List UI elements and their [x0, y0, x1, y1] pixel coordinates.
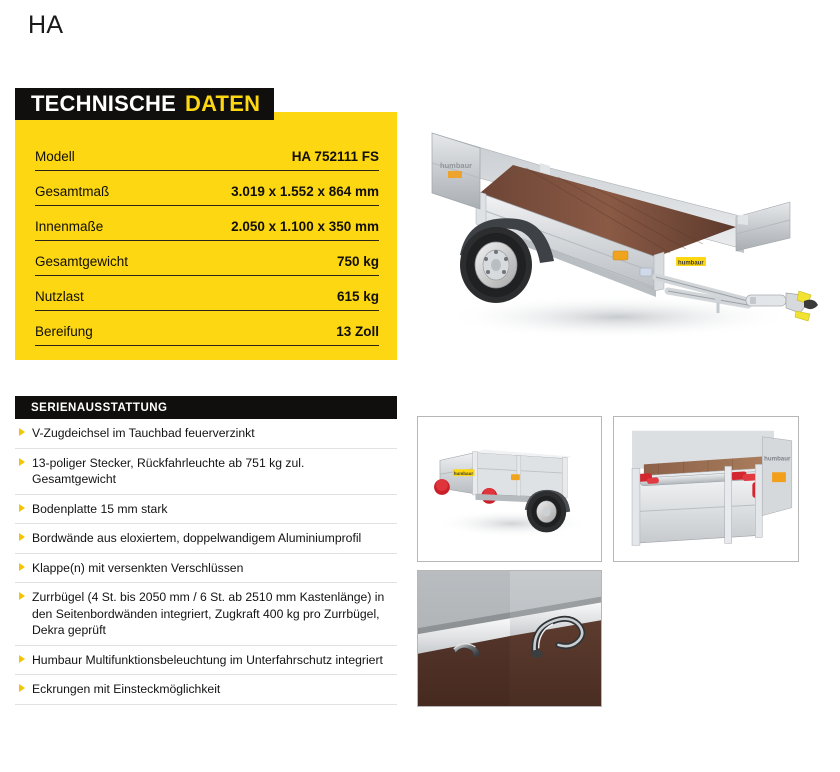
spec-value: 2.050 x 1.100 x 350 mm [231, 219, 379, 235]
standard-equipment-banner-label: SERIENAUSSTATTUNG [31, 402, 168, 414]
svg-text:humbaur: humbaur [454, 471, 474, 476]
trailer-rear-photo: humbaur [417, 416, 602, 562]
table-row: Modell HA 752111 FS [35, 136, 379, 171]
list-item: Bodenplatte 15 mm stark [15, 495, 397, 525]
trailer-main-photo: humbaur humbaur [418, 105, 836, 355]
list-item: Eckrungen mit Einsteckmöglichkeit [15, 675, 397, 705]
spec-label: Modell [35, 149, 75, 165]
standard-equipment-banner: SERIENAUSSTATTUNG [15, 396, 397, 419]
arrow-bullet-icon [19, 504, 25, 512]
table-row: Gesamtmaß 3.019 x 1.552 x 864 mm [35, 171, 379, 206]
page-title: HA [28, 10, 63, 40]
spec-label: Bereifung [35, 324, 93, 340]
table-row: Nutzlast 615 kg [35, 276, 379, 311]
standard-equipment-list: V-Zugdeichsel im Tauchbad feuerverzinkt … [15, 419, 397, 705]
table-row: Bereifung 13 Zoll [35, 311, 379, 346]
list-item-label: Humbaur Multifunktionsbeleuchtung im Unt… [32, 652, 383, 669]
trailer-three-quarter-illustration: humbaur humbaur [418, 105, 836, 355]
spec-value: HA 752111 FS [292, 149, 379, 165]
list-item: V-Zugdeichsel im Tauchbad feuerverzinkt [15, 419, 397, 449]
arrow-bullet-icon [19, 684, 25, 692]
spec-label: Innenmaße [35, 219, 103, 235]
trailer-rear-illustration: humbaur [418, 417, 601, 561]
list-item-label: Bordwände aus eloxiertem, doppelwandigem… [32, 530, 361, 547]
lashing-hook-detail-illustration [418, 571, 601, 706]
list-item: 13-poliger Stecker, Rückfahrleuchte ab 7… [15, 449, 397, 495]
spec-label: Nutzlast [35, 289, 84, 305]
technical-data-banner: TECHNISCHE DATEN [15, 88, 274, 120]
technical-data-banner-word-1: TECHNISCHE [31, 93, 176, 115]
table-row: Gesamtgewicht 750 kg [35, 241, 379, 276]
arrow-bullet-icon [19, 655, 25, 663]
list-item: Bordwände aus eloxiertem, doppelwandigem… [15, 524, 397, 554]
list-item-label: 13-poliger Stecker, Rückfahrleuchte ab 7… [32, 455, 391, 488]
list-item: Humbaur Multifunktionsbeleuchtung im Unt… [15, 646, 397, 676]
table-row: Innenmaße 2.050 x 1.100 x 350 mm [35, 206, 379, 241]
spec-value: 750 kg [337, 254, 379, 270]
lashing-hook-detail-photo [417, 570, 602, 707]
list-item: Zurrbügel (4 St. bis 2050 mm / 6 St. ab … [15, 583, 397, 646]
svg-text:humbaur: humbaur [764, 455, 791, 462]
technical-data-table: Modell HA 752111 FS Gesamtmaß 3.019 x 1.… [35, 136, 379, 346]
svg-text:humbaur: humbaur [678, 261, 704, 267]
svg-text:humbaur: humbaur [440, 161, 472, 170]
spec-label: Gesamtgewicht [35, 254, 128, 270]
spec-value: 3.019 x 1.552 x 864 mm [231, 184, 379, 200]
list-item: Klappe(n) mit versenkten Verschlüssen [15, 554, 397, 584]
list-item-label: Bodenplatte 15 mm stark [32, 501, 168, 518]
spec-value: 13 Zoll [336, 324, 379, 340]
brand-plate: humbaur [676, 257, 706, 267]
spec-label: Gesamtmaß [35, 184, 109, 200]
arrow-bullet-icon [19, 533, 25, 541]
list-item-label: Klappe(n) mit versenkten Verschlüssen [32, 560, 243, 577]
technical-data-banner-word-2: DATEN [185, 93, 260, 115]
list-item-label: Eckrungen mit Einsteckmöglichkeit [32, 681, 220, 698]
trailer-side-detail-photo: humbaur [613, 416, 799, 562]
arrow-bullet-icon [19, 563, 25, 571]
list-item-label: V-Zugdeichsel im Tauchbad feuerverzinkt [32, 425, 255, 442]
spec-value: 615 kg [337, 289, 379, 305]
arrow-bullet-icon [19, 428, 25, 436]
list-item-label: Zurrbügel (4 St. bis 2050 mm / 6 St. ab … [32, 589, 391, 639]
arrow-bullet-icon [19, 458, 25, 466]
trailer-side-wall-detail-illustration: humbaur [614, 417, 798, 561]
arrow-bullet-icon [19, 592, 25, 600]
